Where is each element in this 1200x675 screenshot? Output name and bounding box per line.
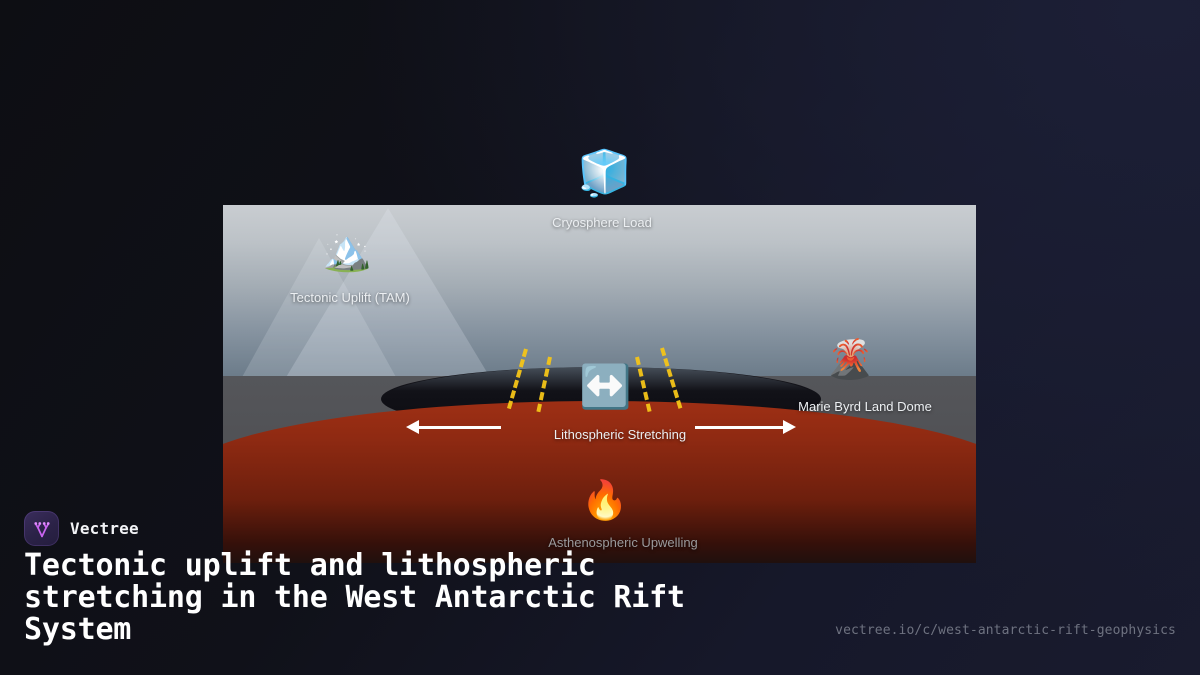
left-right-arrow-icon: ↔️ — [579, 366, 625, 408]
poster-canvas: 🧊 Cryosphere Load 🏔️ Tectonic Uplift (TA… — [0, 0, 1200, 675]
uplift-triangle-small — [241, 235, 397, 379]
cryosphere-load-label: Cryosphere Load — [502, 215, 702, 230]
footer-url: vectree.io/c/west-antarctic-rift-geophys… — [835, 623, 1176, 638]
brand-lockup: Vectree — [24, 511, 139, 546]
lithospheric-stretching-label: Lithospheric Stretching — [520, 427, 720, 442]
page-title: Tectonic uplift and lithospheric stretch… — [24, 550, 784, 645]
brand-name: Vectree — [70, 519, 139, 538]
tectonic-uplift-label: Tectonic Uplift (TAM) — [245, 290, 455, 305]
snow-capped-mountain-icon: 🏔️ — [322, 231, 368, 271]
stretch-arrow-right-head — [783, 420, 799, 434]
fire-icon: 🔥 — [581, 481, 625, 519]
stretch-arrow-left-head — [403, 420, 419, 434]
vectree-tree-logo-icon — [24, 511, 59, 546]
marie-byrd-land-dome-label: Marie Byrd Land Dome — [765, 399, 965, 414]
stretch-arrow-left-shaft — [413, 426, 501, 429]
volcano-icon: 🌋 — [826, 340, 870, 378]
ice-cube-icon: 🧊 — [577, 152, 627, 196]
